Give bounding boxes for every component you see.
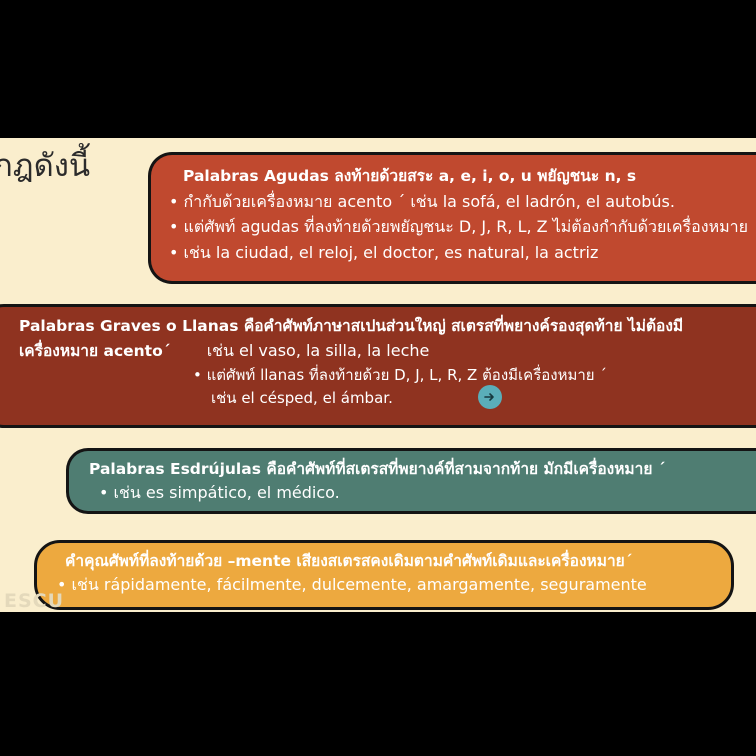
graves-examples-2: เช่น el césped, el ámbar.: [0, 389, 756, 408]
screen: กฎดังนี้ ESCU Palabras Agudas ลงท้ายด้วย…: [0, 0, 756, 756]
esdrujulas-header: Palabras Esdrújulas คือคำศัพท์ที่สเตรสที…: [69, 460, 756, 480]
graves-subline: เครื่องหมาย acento´ เช่น el vaso, la sil…: [0, 341, 756, 362]
agudas-header: Palabras Agudas ลงท้ายด้วยสระ a, e, i, o…: [151, 167, 756, 187]
graves-examples-1: เช่น el vaso, la silla, la leche: [207, 341, 430, 360]
palabras-graves-llanas-card: Palabras Graves o Llanas คือคำศัพท์ภาษาส…: [0, 304, 756, 428]
graves-bullet-1: • แต่ศัพท์ llanas ที่ลงท้ายด้วย D, J, L,…: [0, 366, 756, 385]
palabras-esdrujulas-card: Palabras Esdrújulas คือคำศัพท์ที่สเตรสที…: [66, 448, 756, 514]
letterbox-bottom: [0, 612, 756, 756]
mente-bullet-1: • เช่น rápidamente, fácilmente, dulcemen…: [37, 575, 731, 595]
page-title: กฎดังนี้: [0, 150, 90, 183]
letterbox-top: [0, 0, 756, 138]
arrow-right-icon: [483, 390, 497, 404]
agudas-bullet-3: • เช่น la ciudad, el reloj, el doctor, e…: [151, 243, 756, 263]
esdrujulas-bullet-1: • เช่น es simpático, el médico.: [69, 483, 756, 503]
graves-acento-label: เครื่องหมาย acento´: [19, 342, 171, 360]
palabras-agudas-card: Palabras Agudas ลงท้ายด้วยสระ a, e, i, o…: [148, 152, 756, 284]
watermark-text: ESCU: [4, 590, 64, 612]
pointer-cursor[interactable]: [478, 385, 502, 409]
agudas-bullet-1: • กำกับด้วยเครื่องหมาย acento ´ เช่น la …: [151, 192, 756, 212]
adverbios-mente-card: คำคุณศัพท์ที่ลงท้ายด้วย –mente เสียงสเตร…: [34, 540, 734, 610]
graves-header: Palabras Graves o Llanas คือคำศัพท์ภาษาส…: [0, 317, 756, 337]
mente-header: คำคุณศัพท์ที่ลงท้ายด้วย –mente เสียงสเตร…: [37, 552, 731, 572]
agudas-bullet-2: • แต่ศัพท์ agudas ที่ลงท้ายด้วยพยัญชนะ D…: [151, 217, 756, 237]
slide-canvas: กฎดังนี้ ESCU Palabras Agudas ลงท้ายด้วย…: [0, 138, 756, 612]
